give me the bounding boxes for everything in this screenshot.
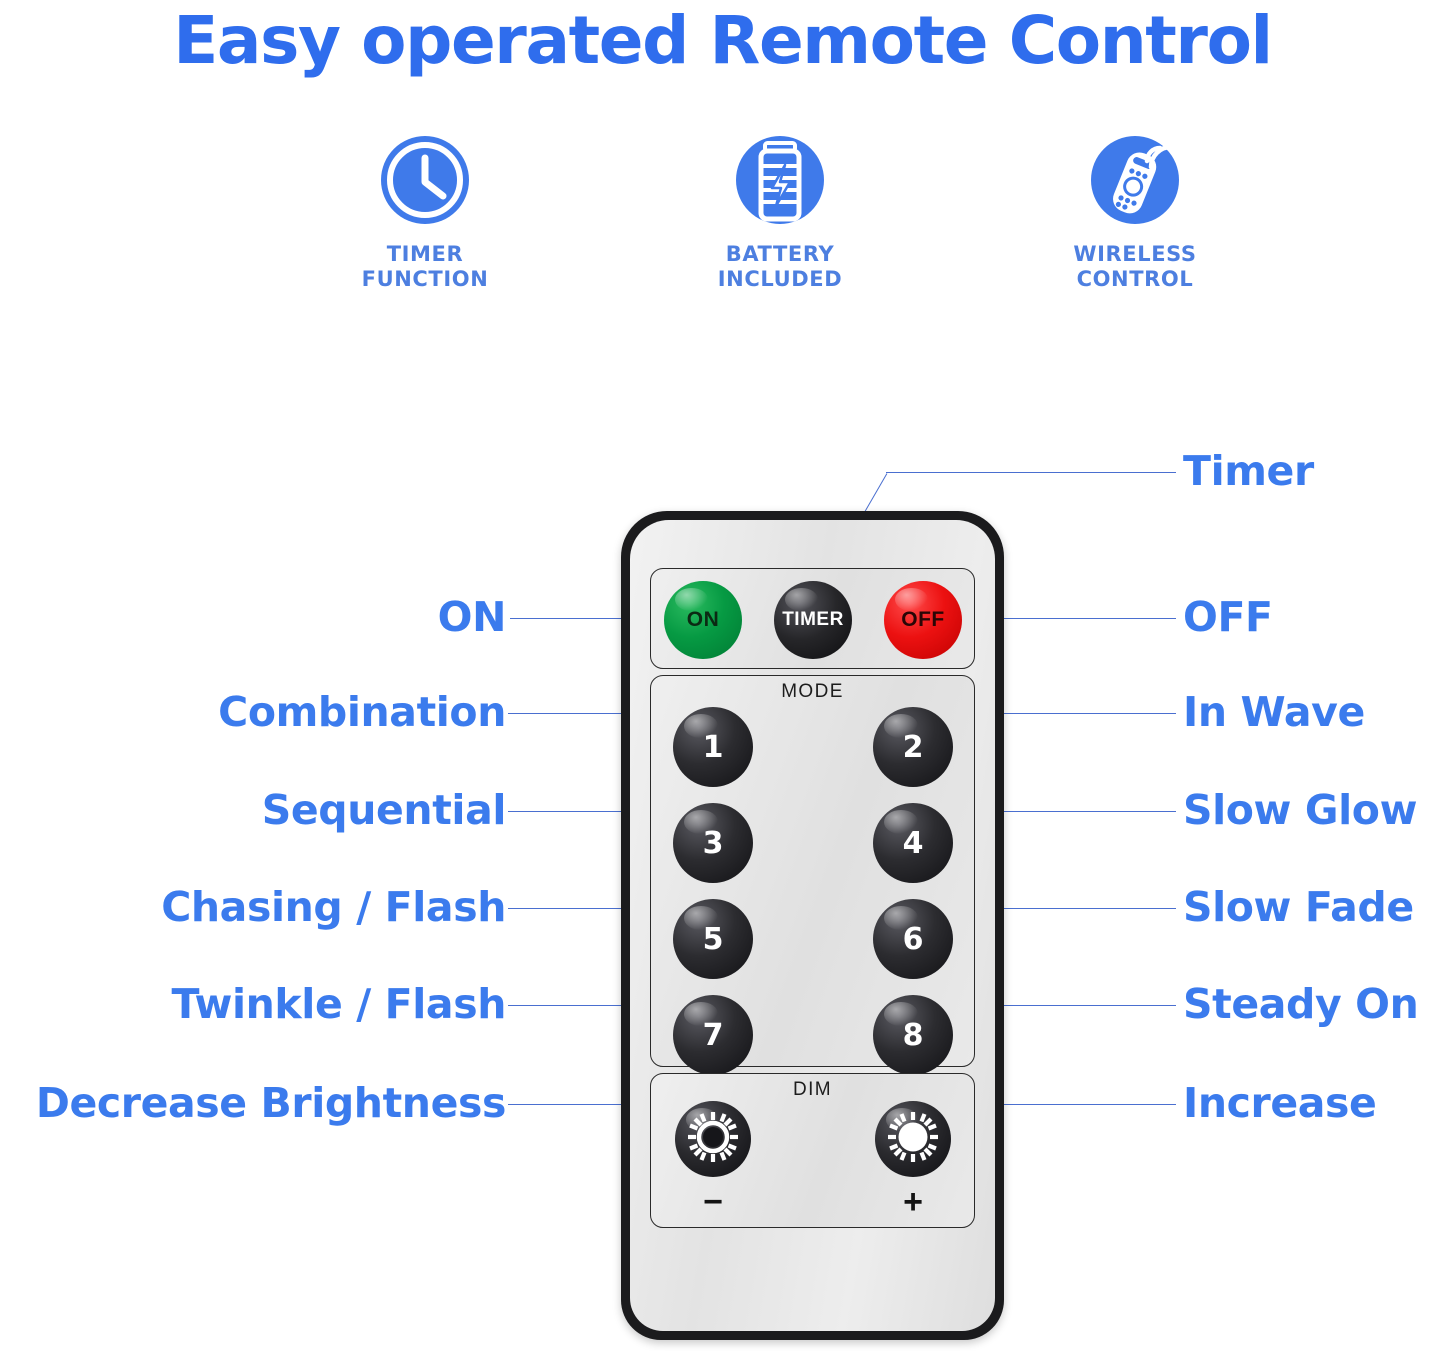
page-title: Easy operated Remote Control [0,2,1445,79]
infographic-canvas: Easy operated Remote Control TIMER FUNCT… [0,0,1445,1351]
callout-combination: Combination [218,692,506,733]
mode-button-label: 5 [703,922,724,957]
callout-increase: Increase [1183,1083,1376,1124]
mode-panel-title: MODE [651,681,974,703]
mode-button-6[interactable]: 6 [873,899,953,979]
mode-button-8[interactable]: 8 [873,995,953,1075]
sun-dim-icon [684,1108,742,1171]
dim-panel-title: DIM [651,1079,974,1101]
remote-icon [1087,132,1183,228]
mode-button-7[interactable]: 7 [673,995,753,1075]
callout-twinkle-flash: Twinkle / Flash [171,984,506,1025]
callout-in-wave: In Wave [1183,692,1365,733]
feature-battery-included: BATTERY INCLUDED [655,132,905,292]
mode-button-label: 4 [903,826,924,861]
mode-button-label: 2 [903,730,924,765]
off-button-label: OFF [901,608,945,632]
mode-button-label: 3 [703,826,724,861]
on-button[interactable]: ON [664,581,742,659]
callout-steady-on: Steady On [1183,984,1418,1025]
increase-brightness-button[interactable] [875,1101,951,1177]
clock-icon [377,132,473,228]
mode-panel: MODE 1 2 3 4 5 6 7 8 [650,675,975,1067]
callout-off: OFF [1183,597,1273,638]
mode-button-label: 8 [903,1018,924,1053]
timer-button-label: TIMER [782,609,844,631]
mode-button-1[interactable]: 1 [673,707,753,787]
mode-button-2[interactable]: 2 [873,707,953,787]
callout-on: ON [438,597,506,638]
minus-sign: − [690,1185,736,1219]
off-button[interactable]: OFF [884,581,962,659]
sun-bright-icon [884,1108,942,1171]
battery-icon [732,132,828,228]
remote-faceplate: ON TIMER OFF MODE 1 2 3 4 [630,520,995,1331]
callout-decrease-brightness: Decrease Brightness [36,1083,506,1124]
leader-line-timer [886,472,1176,473]
feature-label: TIMER FUNCTION [362,242,489,292]
feature-wireless-control: WIRELESS CONTROL [1010,132,1260,292]
callout-slow-fade: Slow Fade [1183,887,1414,928]
dim-panel: DIM [650,1073,975,1228]
feature-label: BATTERY INCLUDED [718,242,843,292]
remote-control-device: ON TIMER OFF MODE 1 2 3 4 [621,511,1004,1340]
decrease-brightness-button[interactable] [675,1101,751,1177]
on-button-label: ON [687,608,720,632]
feature-badges: TIMER FUNCTION BATTERY INCLUDED [300,132,1260,292]
mode-button-5[interactable]: 5 [673,899,753,979]
mode-button-4[interactable]: 4 [873,803,953,883]
plus-sign: + [890,1185,936,1219]
callout-slow-glow: Slow Glow [1183,790,1417,831]
power-panel: ON TIMER OFF [650,568,975,669]
mode-button-label: 1 [703,730,724,765]
mode-button-3[interactable]: 3 [673,803,753,883]
callout-chasing-flash: Chasing / Flash [161,887,506,928]
callout-timer: Timer [1183,451,1314,492]
feature-timer-function: TIMER FUNCTION [300,132,550,292]
timer-button[interactable]: TIMER [774,581,852,659]
mode-button-label: 7 [703,1018,724,1053]
callout-sequential: Sequential [262,790,506,831]
mode-button-label: 6 [903,922,924,957]
feature-label: WIRELESS CONTROL [1073,242,1196,292]
